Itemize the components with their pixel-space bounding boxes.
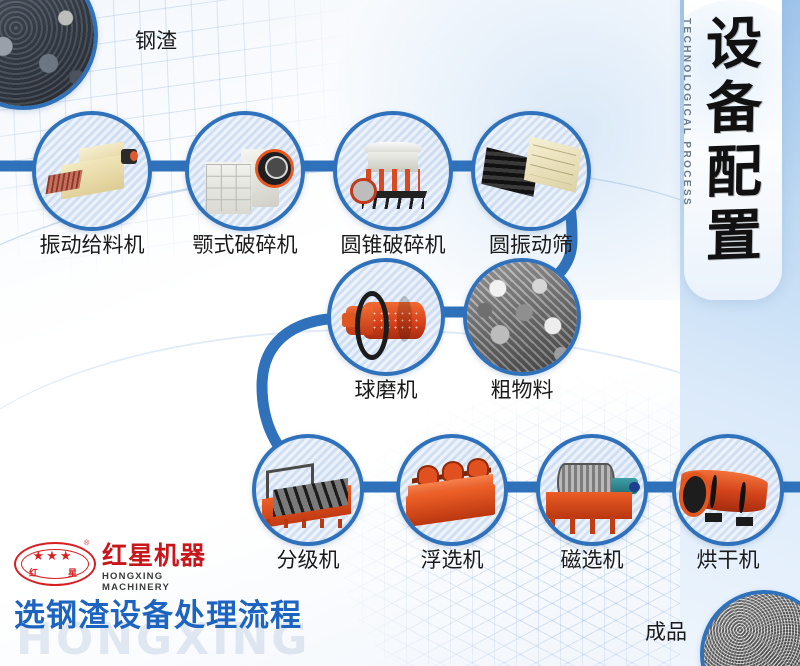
classifier-bubble <box>252 434 364 546</box>
company-name-cn: 红星机器 <box>102 542 206 569</box>
page-title: 选钢渣设备处理流程 <box>14 596 302 636</box>
spiral-classifier-icon <box>256 438 360 542</box>
coarse-material-photo <box>463 258 581 376</box>
jaw-crusher-icon <box>189 115 301 227</box>
logo-char-hong: 红 <box>29 566 38 579</box>
vertical-title-char-2: 备 <box>691 75 776 142</box>
rotary-dryer-icon <box>676 438 780 542</box>
node-steel-slag[interactable] <box>0 0 98 110</box>
node-classifier[interactable]: 分级机 <box>252 434 364 546</box>
fine-powder-photo-icon <box>704 594 800 666</box>
vibrating-screen-bubble <box>471 111 591 231</box>
node-vibrating-screen[interactable]: 圆振动筛 <box>471 111 591 231</box>
node-coarse-material[interactable]: 粗物料 <box>463 258 581 376</box>
magnetic-separator-bubble <box>536 434 648 546</box>
node-dryer[interactable]: 烘干机 <box>672 434 784 546</box>
company-name-en: HONGXING MACHINERY <box>102 571 214 593</box>
process-flow-poster: TECHNOLOGICAL PROCESS 设 备 配 置 钢渣 <box>0 0 800 666</box>
jaw-crusher-bubble <box>185 111 305 231</box>
node-vibrating-feeder[interactable]: 振动给料机 <box>32 111 152 231</box>
label-coarse-material: 粗物料 <box>422 374 622 404</box>
cone-crusher-icon <box>337 115 449 227</box>
vertical-title-english: TECHNOLOGICAL PROCESS <box>681 18 692 207</box>
node-jaw-crusher[interactable]: 颚式破碎机 <box>185 111 305 231</box>
node-ball-mill[interactable]: 球磨机 <box>327 258 445 376</box>
vertical-title-char-4: 置 <box>691 203 776 270</box>
vertical-title-chinese: 设 备 配 置 <box>692 12 776 268</box>
node-cone-crusher[interactable]: 圆锥破碎机 <box>333 111 453 231</box>
finished-product-photo <box>700 590 800 666</box>
vibrating-feeder-bubble <box>32 111 152 231</box>
vertical-title-char-1: 设 <box>691 11 776 78</box>
logo-stars: ★★★ <box>14 549 92 562</box>
magnetic-separator-icon <box>540 438 644 542</box>
ball-mill-bubble <box>327 258 445 376</box>
poster-title: HONGXING 选钢渣设备处理流程 <box>14 596 434 656</box>
logo-oval-characters: 红 星 <box>14 566 92 579</box>
node-flotation-machine[interactable]: 浮选机 <box>396 434 508 546</box>
vibrating-feeder-icon <box>36 115 148 227</box>
flotation-machine-bubble <box>396 434 508 546</box>
label-vibrating-screen: 圆振动筛 <box>431 229 631 259</box>
vertical-title-char-3: 配 <box>691 139 776 206</box>
cone-crusher-bubble <box>333 111 453 231</box>
company-logo[interactable]: ★★★ 红 星 ® 红星机器 HONGXING MACHINERY <box>14 540 214 586</box>
steel-slag-photo <box>0 0 98 110</box>
vibrating-screen-icon <box>475 115 587 227</box>
node-magnetic-separator[interactable]: 磁选机 <box>536 434 648 546</box>
dryer-bubble <box>672 434 784 546</box>
grey-rock-photo-icon <box>467 262 577 372</box>
label-steel-slag: 钢渣 <box>135 25 177 55</box>
dark-rock-photo-icon <box>0 0 94 106</box>
node-finished-product[interactable] <box>700 590 800 666</box>
logo-char-xing: 星 <box>68 566 77 579</box>
label-finished-product: 成品 <box>645 616 687 646</box>
ball-mill-icon <box>331 262 441 372</box>
label-dryer: 烘干机 <box>628 544 800 574</box>
flotation-machine-icon <box>400 438 504 542</box>
registered-mark: ® <box>84 540 89 547</box>
